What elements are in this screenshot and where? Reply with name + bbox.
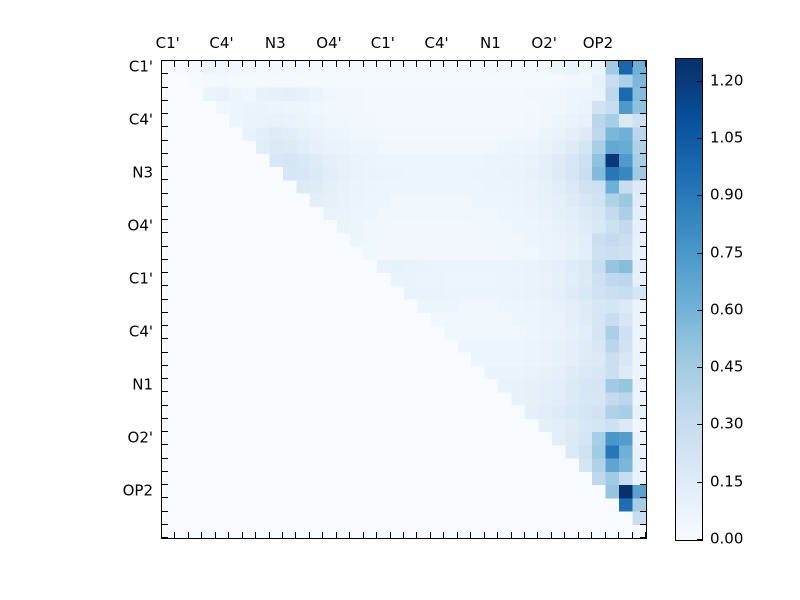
y-tick-label: C1' <box>129 271 153 286</box>
y-tick-right <box>640 338 646 339</box>
x-tick-label: O2' <box>531 36 556 51</box>
y-tick-right <box>640 352 646 353</box>
x-tick-bottom <box>605 532 606 538</box>
y-tick-right <box>640 87 646 88</box>
x-tick-top <box>161 61 162 67</box>
y-tick-right <box>640 60 646 61</box>
x-tick-top <box>322 61 323 67</box>
colorbar-tick-label: 0.90 <box>710 188 743 203</box>
colorbar-axes[interactable] <box>675 58 703 541</box>
x-tick-top <box>269 61 270 67</box>
heatmap-axes[interactable] <box>161 60 647 539</box>
y-tick-left <box>162 405 168 406</box>
x-tick-top <box>390 61 391 67</box>
y-tick-left <box>162 458 168 459</box>
y-tick-left <box>162 352 168 353</box>
colorbar-tick-label: 0.45 <box>710 360 743 375</box>
x-tick-top <box>363 61 364 67</box>
x-tick-top <box>605 61 606 67</box>
colorbar-tick-label: 1.20 <box>710 73 743 88</box>
y-tick-left <box>162 259 168 260</box>
y-tick-right <box>640 206 646 207</box>
y-tick-label: O4' <box>128 218 153 233</box>
x-tick-bottom <box>282 532 283 538</box>
x-tick-bottom <box>322 532 323 538</box>
x-tick-bottom <box>336 532 337 538</box>
x-tick-bottom <box>497 532 498 538</box>
y-tick-right <box>640 444 646 445</box>
y-tick-right <box>640 458 646 459</box>
x-tick-top <box>457 61 458 67</box>
colorbar-tick-label: 0.60 <box>710 302 743 317</box>
colorbar-tick <box>697 482 702 483</box>
y-tick-left <box>162 60 168 61</box>
y-tick-right <box>640 511 646 512</box>
x-tick-bottom <box>443 532 444 538</box>
y-tick-right <box>640 166 646 167</box>
y-tick-left <box>162 299 168 300</box>
y-tick-left <box>162 219 168 220</box>
x-tick-top <box>484 61 485 67</box>
x-tick-top <box>403 61 404 67</box>
y-tick-right <box>640 391 646 392</box>
x-tick-label: OP2 <box>583 36 613 51</box>
y-tick-left <box>162 140 168 141</box>
y-tick-left <box>162 153 168 154</box>
x-tick-top <box>591 61 592 67</box>
x-tick-label: N3 <box>265 36 286 51</box>
x-tick-top <box>470 61 471 67</box>
y-tick-right <box>640 299 646 300</box>
x-tick-top <box>443 61 444 67</box>
y-tick-label: C1' <box>129 59 153 74</box>
x-tick-bottom <box>309 532 310 538</box>
x-tick-top <box>416 61 417 67</box>
x-tick-top <box>618 61 619 67</box>
y-tick-left <box>162 511 168 512</box>
y-tick-right <box>640 219 646 220</box>
y-tick-right <box>640 73 646 74</box>
x-tick-top <box>255 61 256 67</box>
colorbar-tick <box>697 367 702 368</box>
x-tick-top <box>349 61 350 67</box>
y-tick-left <box>162 418 168 419</box>
y-tick-left <box>162 166 168 167</box>
x-tick-top <box>632 61 633 67</box>
x-tick-bottom <box>430 532 431 538</box>
y-tick-left <box>162 471 168 472</box>
y-tick-right <box>640 524 646 525</box>
x-tick-bottom <box>416 532 417 538</box>
y-tick-right <box>640 100 646 101</box>
y-tick-left <box>162 431 168 432</box>
x-tick-top <box>564 61 565 67</box>
y-tick-left <box>162 246 168 247</box>
y-tick-left <box>162 285 168 286</box>
colorbar-tick <box>697 81 702 82</box>
x-tick-top <box>524 61 525 67</box>
x-tick-label: C1' <box>156 36 180 51</box>
y-tick-left <box>162 484 168 485</box>
x-tick-top <box>188 61 189 67</box>
x-tick-label: N1 <box>480 36 501 51</box>
x-tick-top <box>336 61 337 67</box>
y-tick-left <box>162 100 168 101</box>
colorbar-tick <box>697 138 702 139</box>
x-tick-bottom <box>632 532 633 538</box>
x-tick-bottom <box>188 532 189 538</box>
x-tick-bottom <box>349 532 350 538</box>
y-tick-left <box>162 272 168 273</box>
colorbar-tick <box>697 195 702 196</box>
x-tick-bottom <box>511 532 512 538</box>
x-tick-bottom <box>484 532 485 538</box>
x-tick-bottom <box>591 532 592 538</box>
y-tick-right <box>640 126 646 127</box>
colorbar-tick-label: 0.00 <box>710 532 743 547</box>
y-tick-label: OP2 <box>123 483 153 498</box>
x-tick-label: C4' <box>209 36 233 51</box>
x-tick-top <box>551 61 552 67</box>
x-tick-top <box>645 61 646 67</box>
x-tick-top <box>242 61 243 67</box>
y-tick-left <box>162 232 168 233</box>
x-tick-top <box>201 61 202 67</box>
x-tick-top <box>511 61 512 67</box>
x-tick-bottom <box>215 532 216 538</box>
y-tick-right <box>640 325 646 326</box>
x-tick-top <box>537 61 538 67</box>
y-tick-label: O2' <box>128 430 153 445</box>
y-tick-right <box>640 365 646 366</box>
x-tick-bottom <box>228 532 229 538</box>
x-tick-top <box>309 61 310 67</box>
y-tick-right <box>640 418 646 419</box>
y-tick-right <box>640 497 646 498</box>
colorbar-tick-label: 1.05 <box>710 131 743 146</box>
x-tick-top <box>376 61 377 67</box>
x-tick-top <box>497 61 498 67</box>
y-tick-left <box>162 497 168 498</box>
y-tick-left <box>162 378 168 379</box>
x-tick-bottom <box>537 532 538 538</box>
y-tick-label: N1 <box>132 377 153 392</box>
y-tick-left <box>162 391 168 392</box>
y-tick-left <box>162 312 168 313</box>
x-tick-top <box>578 61 579 67</box>
y-tick-left <box>162 365 168 366</box>
x-tick-bottom <box>524 532 525 538</box>
y-tick-left <box>162 537 168 538</box>
x-tick-bottom <box>618 532 619 538</box>
y-tick-right <box>640 272 646 273</box>
y-tick-label: N3 <box>132 165 153 180</box>
x-tick-bottom <box>390 532 391 538</box>
x-tick-bottom <box>376 532 377 538</box>
y-tick-right <box>640 431 646 432</box>
y-tick-right <box>640 312 646 313</box>
x-tick-label: C4' <box>425 36 449 51</box>
x-tick-bottom <box>457 532 458 538</box>
y-tick-right <box>640 285 646 286</box>
y-tick-right <box>640 471 646 472</box>
y-tick-right <box>640 193 646 194</box>
y-tick-left <box>162 179 168 180</box>
x-tick-bottom <box>564 532 565 538</box>
y-tick-label: C4' <box>129 324 153 339</box>
x-tick-top <box>282 61 283 67</box>
colorbar-tick-label: 0.15 <box>710 474 743 489</box>
heatmap-image <box>162 61 646 538</box>
y-tick-left <box>162 206 168 207</box>
y-tick-left <box>162 325 168 326</box>
colorbar-tick-label: 0.75 <box>710 245 743 260</box>
y-tick-right <box>640 140 646 141</box>
x-tick-bottom <box>255 532 256 538</box>
y-tick-right <box>640 153 646 154</box>
y-tick-right <box>640 232 646 233</box>
y-tick-right <box>640 484 646 485</box>
y-tick-left <box>162 444 168 445</box>
y-tick-left <box>162 193 168 194</box>
x-tick-top <box>295 61 296 67</box>
x-tick-label: O4' <box>316 36 341 51</box>
x-tick-top <box>215 61 216 67</box>
x-tick-bottom <box>470 532 471 538</box>
figure-canvas: C1'C4'N3O4'C1'C4'N1O2'OP2 C1'C4'N3O4'C1'… <box>0 0 800 600</box>
x-tick-bottom <box>242 532 243 538</box>
x-tick-bottom <box>174 532 175 538</box>
x-tick-bottom <box>269 532 270 538</box>
x-tick-top <box>228 61 229 67</box>
y-tick-right <box>640 378 646 379</box>
x-tick-bottom <box>201 532 202 538</box>
y-tick-right <box>640 259 646 260</box>
x-tick-label: C1' <box>371 36 395 51</box>
y-tick-label: C4' <box>129 112 153 127</box>
x-tick-bottom <box>403 532 404 538</box>
colorbar-tick <box>697 424 702 425</box>
colorbar-tick <box>697 310 702 311</box>
y-tick-left <box>162 338 168 339</box>
x-tick-bottom <box>363 532 364 538</box>
colorbar-tick <box>697 253 702 254</box>
x-tick-top <box>430 61 431 67</box>
y-tick-right <box>640 246 646 247</box>
x-tick-bottom <box>578 532 579 538</box>
x-tick-bottom <box>551 532 552 538</box>
y-tick-right <box>640 179 646 180</box>
y-tick-left <box>162 113 168 114</box>
y-tick-left <box>162 87 168 88</box>
y-tick-right <box>640 537 646 538</box>
y-tick-left <box>162 73 168 74</box>
y-tick-left <box>162 126 168 127</box>
x-tick-bottom <box>295 532 296 538</box>
y-tick-right <box>640 113 646 114</box>
x-tick-top <box>174 61 175 67</box>
y-tick-right <box>640 405 646 406</box>
colorbar-gradient <box>676 59 702 540</box>
colorbar-tick <box>697 539 702 540</box>
colorbar-tick-label: 0.30 <box>710 417 743 432</box>
y-tick-left <box>162 524 168 525</box>
